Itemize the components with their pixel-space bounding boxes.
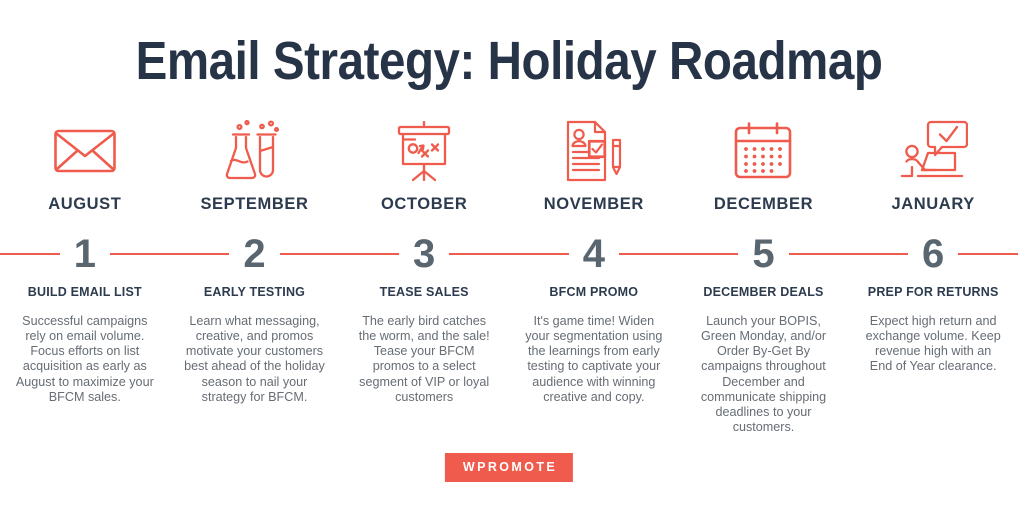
step-text-4: BFCM PROMO It's game time! Widen your se… (509, 286, 679, 435)
step-headline: TEASE SALES (353, 286, 495, 300)
month-label: DECEMBER (714, 196, 813, 213)
wpromote-logo[interactable]: WPROMOTE (445, 453, 573, 482)
step-text-5: DECEMBER DEALS Launch your BOPIS, Green … (679, 286, 849, 435)
step-headline: PREP FOR RETURNS (862, 286, 1004, 300)
timeline-number-cell: 3 (339, 228, 509, 280)
step-body: Launch your BOPIS, Green Monday, and/or … (693, 314, 835, 436)
month-label: NOVEMBER (544, 196, 644, 213)
timeline-number-cell: 5 (679, 228, 849, 280)
step-text-1: BUILD EMAIL LIST Successful campaigns re… (0, 286, 170, 435)
month-label: SEPTEMBER (200, 196, 308, 213)
step-number: 5 (738, 228, 788, 280)
step-number: 3 (399, 228, 449, 280)
step-text-3: TEASE SALES The early bird catches the w… (339, 286, 509, 435)
envelope-icon (53, 118, 117, 184)
person-laptop-check-icon (898, 118, 968, 184)
step-body: Successful campaigns rely on email volum… (14, 314, 156, 405)
step-column-1: AUGUST (0, 118, 170, 213)
step-description-row: BUILD EMAIL LIST Successful campaigns re… (0, 286, 1018, 435)
step-number: 6 (908, 228, 958, 280)
step-body: Learn what messaging, creative, and prom… (184, 314, 326, 405)
timeline-number-cell: 4 (509, 228, 679, 280)
step-number: 2 (229, 228, 279, 280)
step-column-5: DECEMBER (679, 118, 849, 213)
step-body: It's game time! Widen your segmentation … (523, 314, 665, 405)
month-label: JANUARY (891, 196, 974, 213)
step-column-2: SEPTEMBER (170, 118, 340, 213)
timeline-number-cell: 2 (170, 228, 340, 280)
step-body: The early bird catches the worm, and the… (353, 314, 495, 405)
timeline-number-cell: 6 (848, 228, 1018, 280)
profile-document-pencil-icon (565, 118, 623, 184)
timeline: 1 2 3 4 5 6 (0, 228, 1018, 280)
step-column-6: JANUARY (848, 118, 1018, 213)
step-headline: DECEMBER DEALS (693, 286, 835, 300)
step-body: Expect high return and exchange volume. … (862, 314, 1004, 375)
infographic-canvas: Email Strategy: Holiday Roadmap AUGUST (0, 0, 1018, 519)
calendar-icon (733, 118, 793, 184)
timeline-number-row: 1 2 3 4 5 6 (0, 228, 1018, 280)
flask-test-tube-icon (224, 118, 284, 184)
step-text-6: PREP FOR RETURNS Expect high return and … (848, 286, 1018, 435)
month-label: AUGUST (48, 196, 121, 213)
step-number: 1 (60, 228, 110, 280)
step-headline: EARLY TESTING (184, 286, 326, 300)
step-column-4: NOVEMBER (509, 118, 679, 213)
step-headline: BFCM PROMO (523, 286, 665, 300)
timeline-number-cell: 1 (0, 228, 170, 280)
step-number: 4 (569, 228, 619, 280)
strategy-board-icon (392, 118, 456, 184)
step-headline: BUILD EMAIL LIST (14, 286, 156, 300)
month-label: OCTOBER (381, 196, 467, 213)
step-column-3: OCTOBER (339, 118, 509, 213)
month-icon-row: AUGUST (0, 118, 1018, 213)
step-text-2: EARLY TESTING Learn what messaging, crea… (170, 286, 340, 435)
page-title: Email Strategy: Holiday Roadmap (61, 30, 957, 92)
